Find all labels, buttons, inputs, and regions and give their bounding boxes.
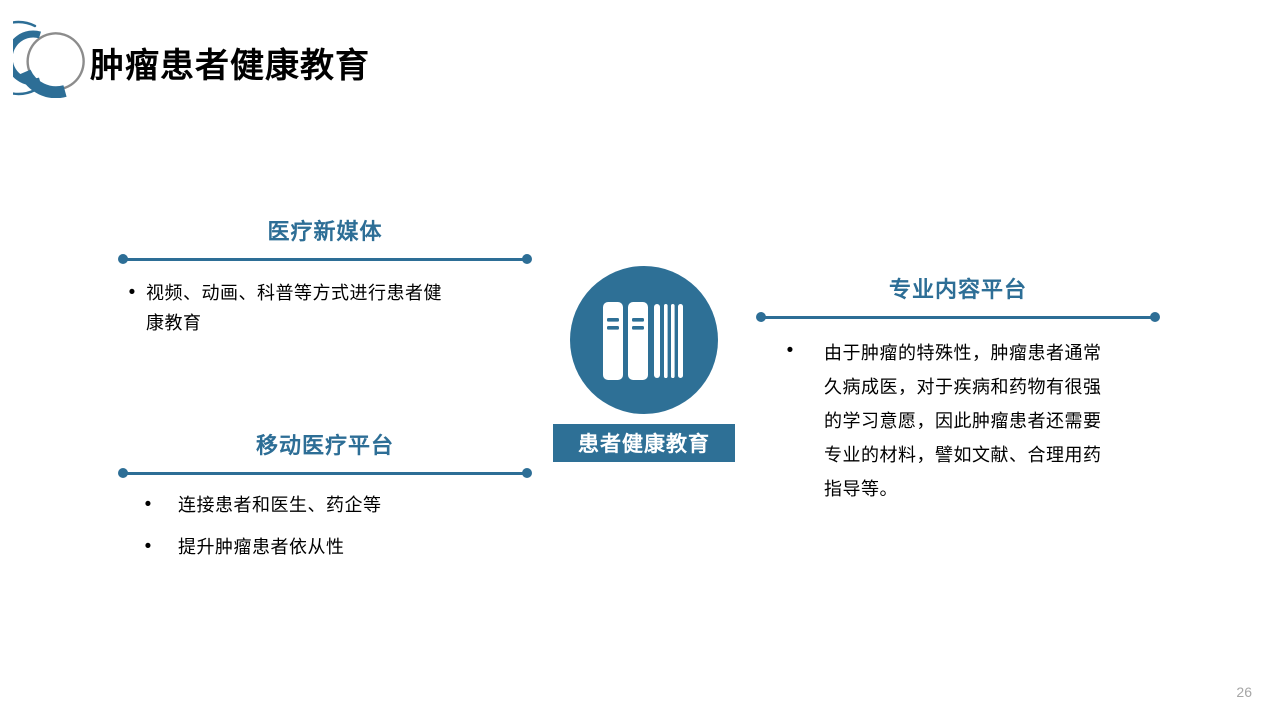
bullet-text: 视频、动画、科普等方式进行患者健康教育: [146, 278, 446, 338]
list-item: • 由于肿瘤的特殊性，肿瘤患者通常久病成医，对于疾病和药物有很强的学习意愿，因此…: [756, 336, 1160, 506]
divider-dot-right: [522, 254, 532, 264]
bullet-list-content: • 由于肿瘤的特殊性，肿瘤患者通常久病成医，对于疾病和药物有很强的学习意愿，因此…: [756, 336, 1160, 506]
slide-header: 肿瘤患者健康教育: [0, 0, 1280, 130]
list-item: • 视频、动画、科普等方式进行患者健康教育: [118, 278, 532, 338]
divider-bar: [122, 472, 528, 475]
panel-heading-content: 专业内容平台: [756, 272, 1160, 304]
divider-dot-right: [1150, 312, 1160, 322]
center-hub-circle: [570, 266, 718, 414]
bullet-list-media: • 视频、动画、科普等方式进行患者健康教育: [118, 278, 532, 338]
page-title: 肿瘤患者健康教育: [90, 38, 370, 87]
divider-dot-right: [522, 468, 532, 478]
divider-bar: [760, 316, 1156, 319]
hub-badge-label: 患者健康教育: [578, 428, 710, 458]
divider-content: [756, 312, 1160, 322]
panel-medical-new-media: 医疗新媒体 • 视频、动画、科普等方式进行患者健康教育: [118, 214, 532, 338]
bullet-list-mobile: • 连接患者和医生、药企等 • 提升肿瘤患者依从性: [118, 490, 532, 562]
bullet-text: 由于肿瘤的特殊性，肿瘤患者通常久病成医，对于疾病和药物有很强的学习意愿，因此肿瘤…: [824, 336, 1114, 506]
concentric-arc-logo-icon: [13, 18, 93, 98]
bullet-marker-icon: •: [118, 278, 146, 308]
divider-bar: [122, 258, 528, 261]
bullet-marker-icon: •: [118, 532, 178, 562]
bullet-marker-icon: •: [118, 490, 178, 520]
books-shelf-icon: [603, 302, 685, 380]
panel-mobile-medical-platform: 移动医疗平台 • 连接患者和医生、药企等 • 提升肿瘤患者依从性: [118, 428, 532, 562]
panel-professional-content-platform: 专业内容平台 • 由于肿瘤的特殊性，肿瘤患者通常久病成医，对于疾病和药物有很强的…: [756, 272, 1160, 506]
bullet-text: 连接患者和医生、药企等: [178, 490, 532, 520]
page-number: 26: [1236, 684, 1252, 700]
panel-heading-mobile: 移动医疗平台: [118, 428, 532, 460]
list-item: • 提升肿瘤患者依从性: [118, 532, 532, 562]
bullet-marker-icon: •: [756, 336, 824, 366]
panel-heading-media: 医疗新媒体: [118, 214, 532, 246]
status-badge: 患者健康教育: [553, 424, 735, 462]
divider-mobile: [118, 468, 532, 478]
divider-media: [118, 254, 532, 264]
list-item: • 连接患者和医生、药企等: [118, 490, 532, 520]
bullet-text: 提升肿瘤患者依从性: [178, 532, 532, 562]
